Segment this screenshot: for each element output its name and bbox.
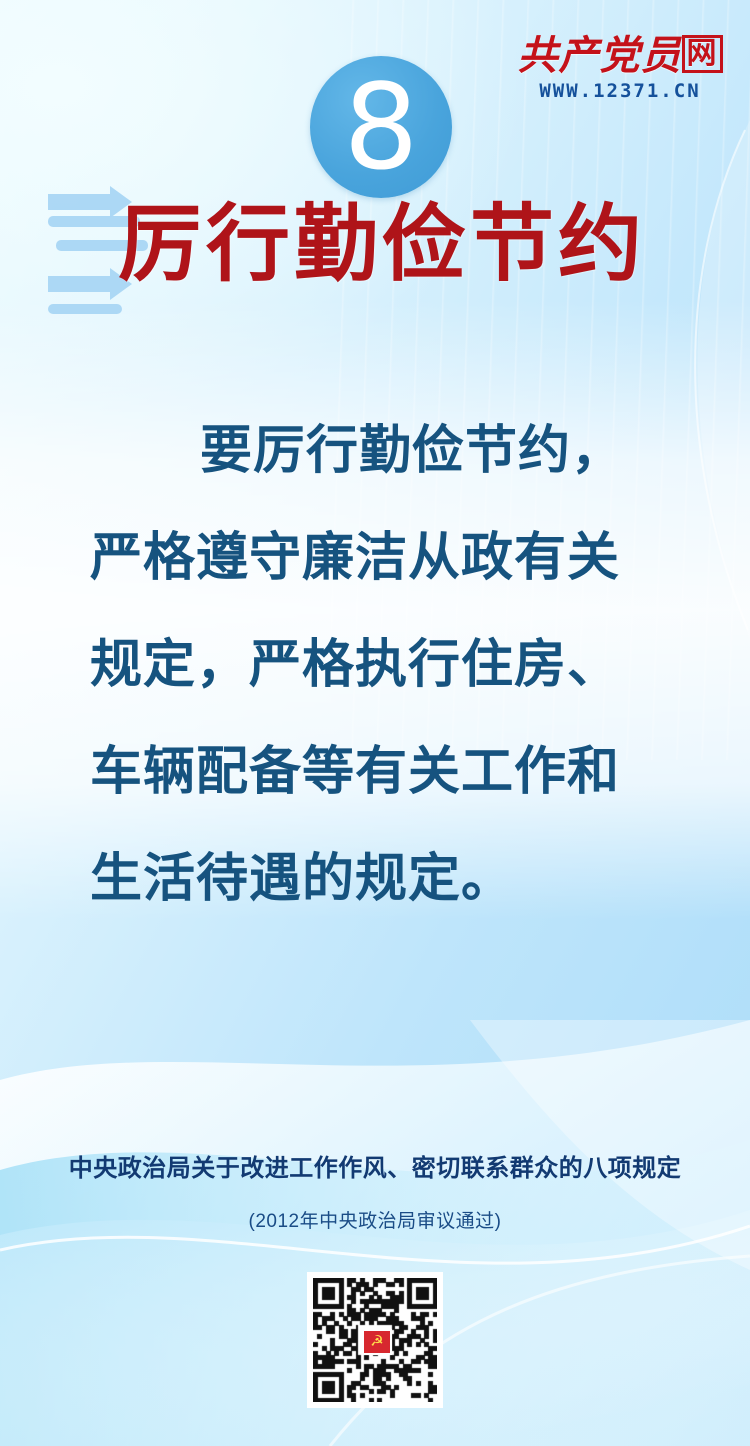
body-copy: 要厉行勤俭节约， 严格遵守廉洁从政有关 规定，严格执行住房、 车辆配备等有关工作… xyxy=(90,398,670,933)
body-line: 要厉行勤俭节约， xyxy=(90,398,670,505)
number-badge: 8 xyxy=(310,56,452,198)
qr-code[interactable]: ☭ xyxy=(307,1272,443,1408)
party-emblem-glyph: ☭ xyxy=(364,1331,390,1353)
site-logo[interactable]: 共产党员网 WWW.12371.CN xyxy=(512,34,728,102)
party-emblem-icon: ☭ xyxy=(362,1329,392,1355)
footer-regulation-subtitle: (2012年中央政治局审议通过) xyxy=(0,1206,750,1233)
logo-wordmark-text: 共产党员 xyxy=(518,32,682,79)
body-line: 严格遵守廉洁从政有关 xyxy=(90,505,670,612)
logo-url: WWW.12371.CN xyxy=(512,80,728,102)
logo-boxed-char: 网 xyxy=(682,35,723,73)
number-badge-label: 8 xyxy=(310,56,452,198)
body-line: 规定，严格执行住房、 xyxy=(90,612,670,719)
body-line: 生活待遇的规定。 xyxy=(90,826,670,933)
footer-regulation-title: 中央政治局关于改进工作作风、密切联系群众的八项规定 xyxy=(0,1148,750,1183)
logo-wordmark: 共产党员网 xyxy=(512,34,728,78)
body-line: 车辆配备等有关工作和 xyxy=(90,719,670,826)
poster-root: 共产党员网 WWW.12371.CN 8 厉行勤俭节约 要厉行勤俭节约， 严格遵… xyxy=(0,0,750,1446)
page-title: 厉行勤俭节约 xyxy=(118,196,646,292)
